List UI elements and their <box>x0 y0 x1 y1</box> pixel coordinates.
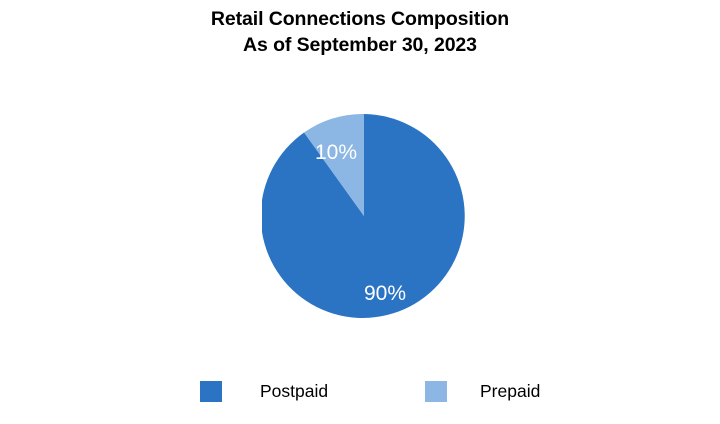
legend-label-postpaid: Postpaid <box>260 381 328 401</box>
pie-slice-label-postpaid: 90% <box>354 283 416 304</box>
pie-slice-label-prepaid: 10% <box>306 142 366 163</box>
legend-label-prepaid: Prepaid <box>480 381 540 401</box>
legend-swatch-postpaid-icon <box>200 381 222 402</box>
legend-item-postpaid[interactable]: Postpaid <box>200 376 328 406</box>
legend-swatch-prepaid-icon <box>425 381 447 402</box>
legend-item-prepaid[interactable]: Prepaid <box>425 376 540 406</box>
pie-chart-plot-area: 10% 90% <box>0 0 720 360</box>
chart-legend: Postpaid Prepaid <box>0 376 720 410</box>
